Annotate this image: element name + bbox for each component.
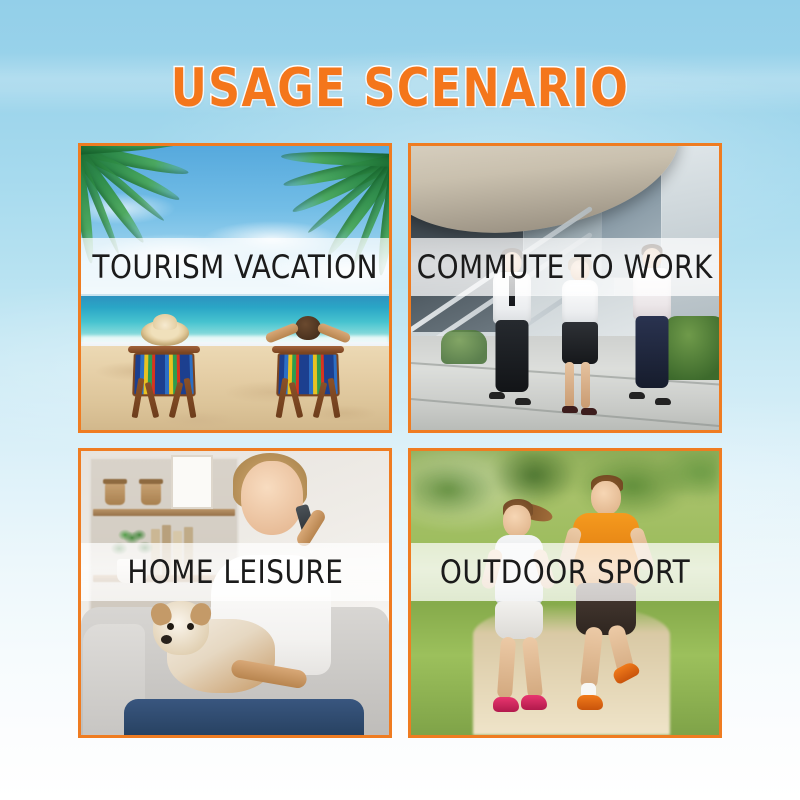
woman-head xyxy=(241,461,303,535)
caption-commute-to-work: COMMUTE TO WORK xyxy=(417,248,713,286)
usage-scenario-poster: USAGE SCENARIO xyxy=(0,0,800,800)
panel-home-leisure[interactable]: HOME LEISURE xyxy=(78,448,392,738)
caption-outdoor-sport: OUTDOOR SPORT xyxy=(440,553,690,591)
caption-home-leisure: HOME LEISURE xyxy=(127,553,343,591)
runner-female xyxy=(489,499,565,735)
caption-band-tourism: TOURISM VACATION xyxy=(81,238,389,296)
page-title: USAGE SCENARIO xyxy=(28,58,772,119)
panel-outdoor-sport[interactable]: OUTDOOR SPORT xyxy=(408,448,722,738)
caption-tourism-vacation: TOURISM VACATION xyxy=(92,248,378,286)
jeans xyxy=(124,699,364,735)
caption-band-commute: COMMUTE TO WORK xyxy=(411,238,719,296)
deck-chair-left xyxy=(127,336,201,410)
sun-hat xyxy=(141,320,189,346)
caption-band-outdoor: OUTDOOR SPORT xyxy=(411,543,719,601)
panel-commute-to-work[interactable]: COMMUTE TO WORK xyxy=(408,143,722,433)
deck-chair-right xyxy=(271,336,345,410)
panel-tourism-vacation[interactable]: TOURISM VACATION xyxy=(78,143,392,433)
hedge-left xyxy=(441,330,487,364)
tree-line xyxy=(411,451,719,548)
picture-frame xyxy=(171,455,213,509)
caption-band-home: HOME LEISURE xyxy=(81,543,389,601)
dog-head xyxy=(153,601,209,655)
